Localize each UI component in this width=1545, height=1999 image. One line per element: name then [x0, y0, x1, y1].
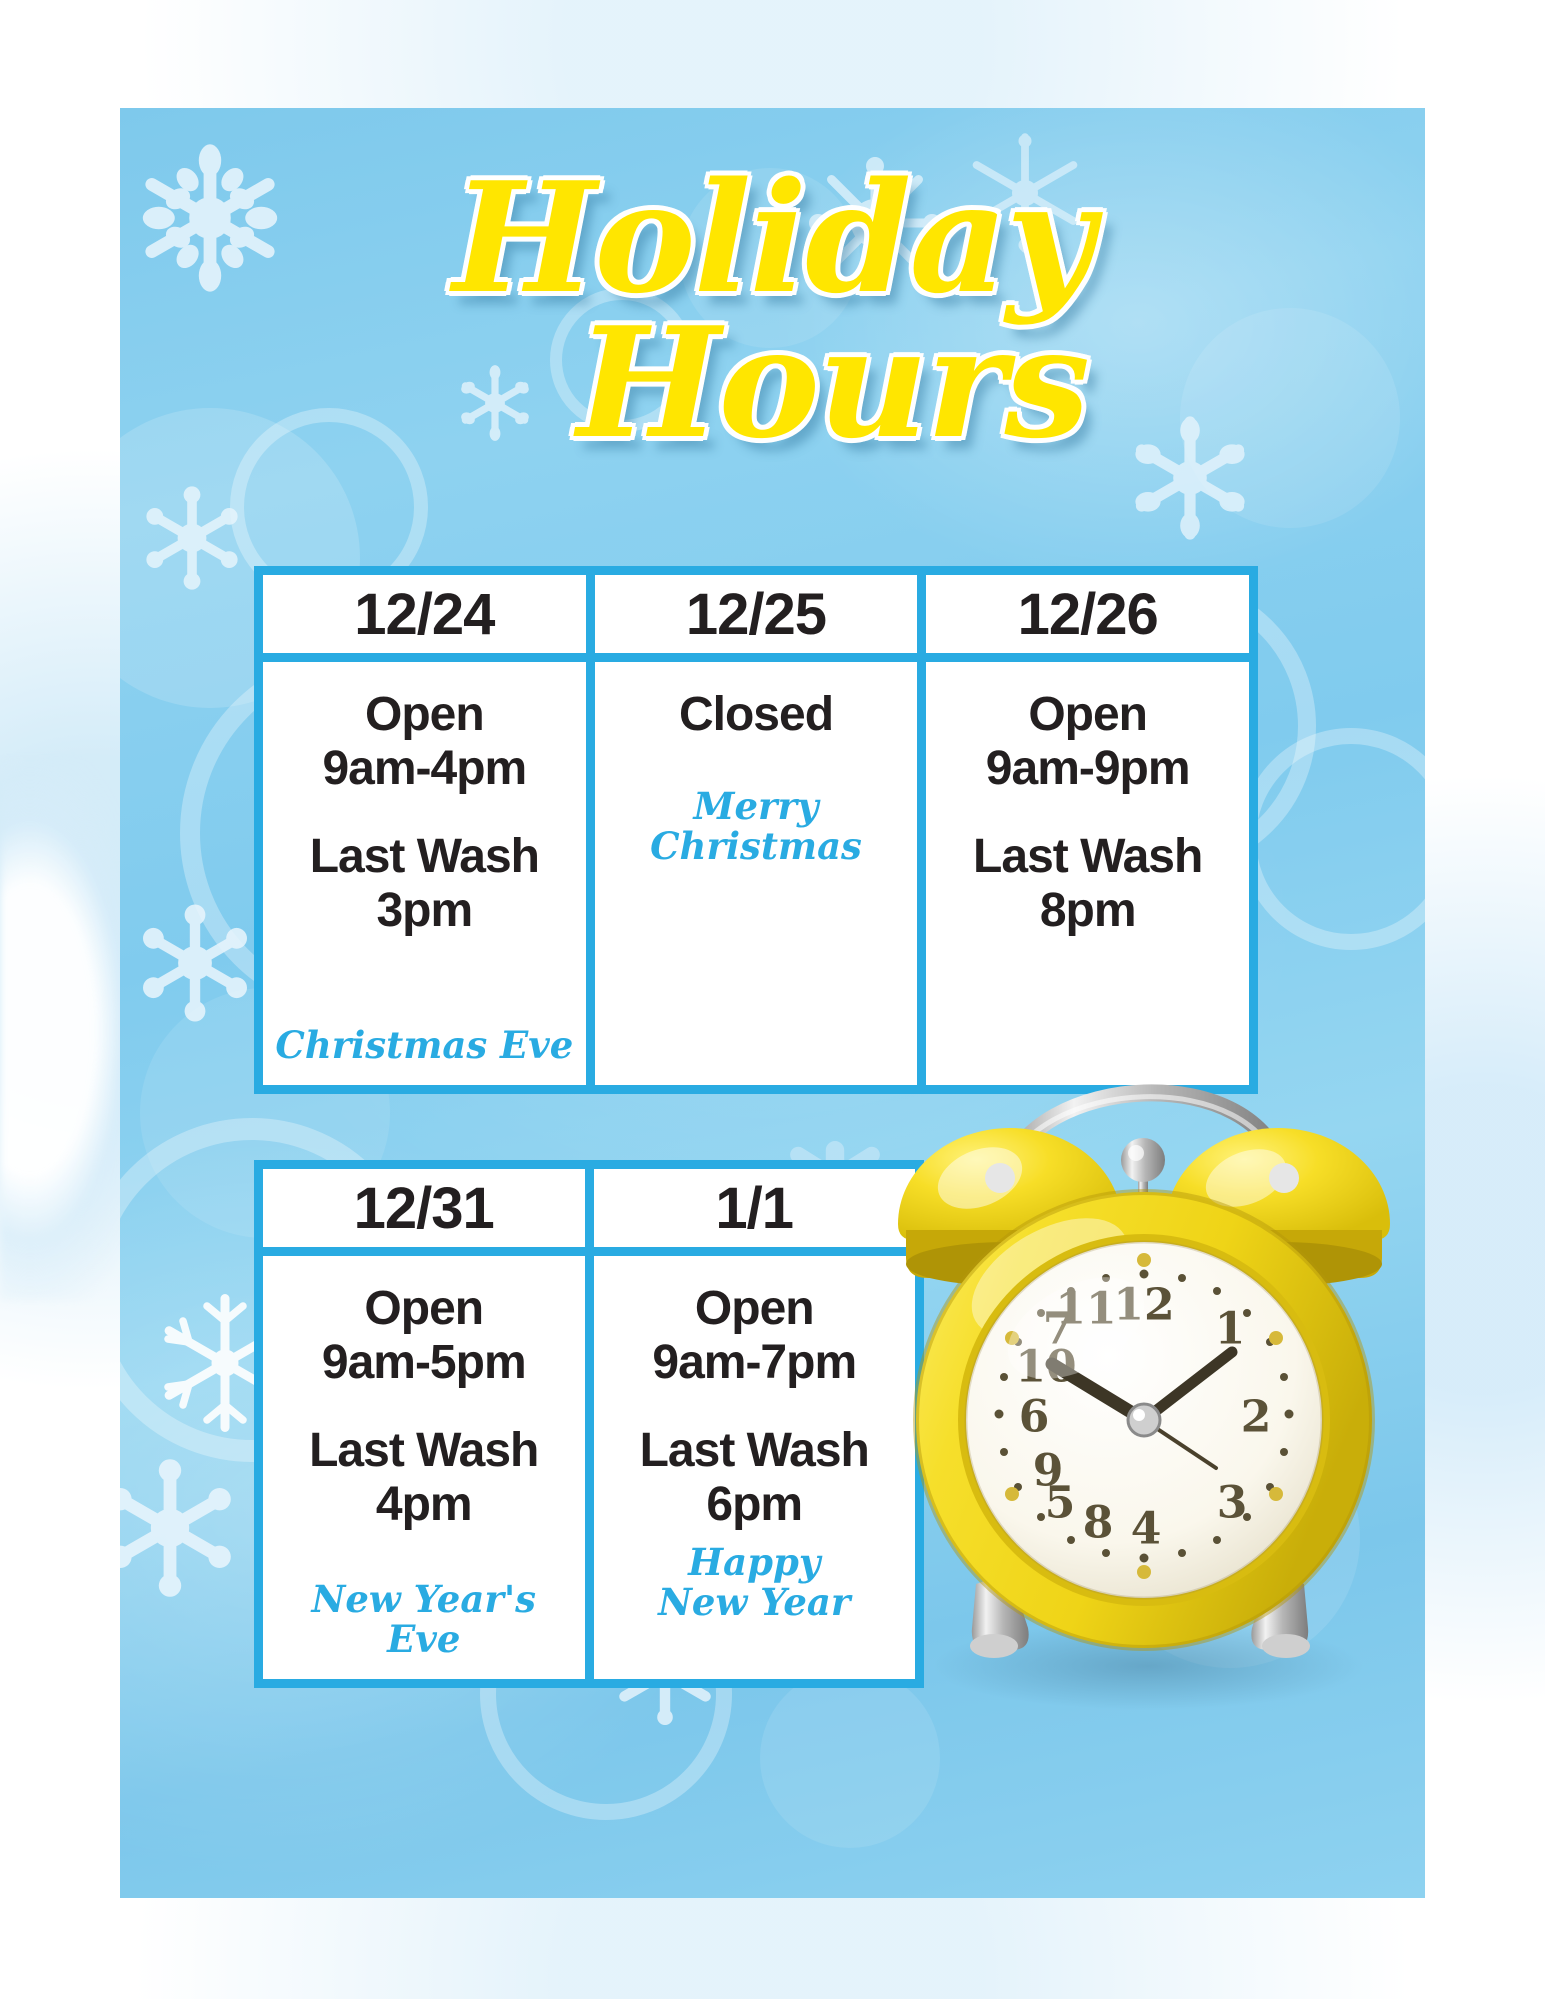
open-status: Open 9am-5pm [322, 1282, 526, 1390]
last-wash-time: 8pm [1040, 884, 1136, 937]
hours-value: 9am-5pm [322, 1336, 526, 1390]
status-label: Open [364, 1282, 483, 1335]
svg-text:6: 6 [1019, 1392, 1050, 1443]
hours-value: 9am-7pm [652, 1336, 856, 1390]
last-wash-time: 3pm [376, 884, 472, 937]
snowflake-icon [130, 138, 290, 298]
date-header: 1/1 [594, 1169, 916, 1247]
open-status: Open 9am-9pm [986, 688, 1190, 796]
yellow-alarm-clock-icon: 12 1 2 3 4 5 6 7 11 10 9 8 [880, 1028, 1400, 1718]
last-wash-label: Last Wash [973, 830, 1202, 883]
schedule-cell-body: Open 9am-9pm Last Wash 8pm [926, 662, 1249, 1085]
hours-value: 9am-9pm [986, 742, 1190, 796]
holiday-hours-table-christmas: 12/24 Open 9am-4pm Last Wash 3pm Christm… [254, 566, 1258, 1094]
svg-text:4: 4 [1131, 1504, 1162, 1555]
snowflake-icon [132, 478, 252, 598]
last-wash-info: Last Wash 4pm [309, 1424, 538, 1532]
status-label: Open [695, 1282, 814, 1335]
last-wash-label: Last Wash [309, 1424, 538, 1477]
schedule-column-12-31: 12/31 Open 9am-5pm Last Wash 4pm New Yea… [263, 1169, 585, 1679]
snowflake-icon [450, 358, 540, 448]
holiday-greeting: Happy New Year [658, 1542, 850, 1622]
open-status: Open 9am-7pm [652, 1282, 856, 1390]
last-wash-time: 6pm [706, 1478, 802, 1531]
date-header: 12/24 [263, 575, 586, 653]
date-header: 12/25 [595, 575, 918, 653]
hours-value: 9am-4pm [322, 742, 526, 796]
schedule-column-1-1: 1/1 Open 9am-7pm Last Wash 6pm Happy New… [594, 1169, 916, 1679]
last-wash-info: Last Wash 6pm [640, 1424, 869, 1532]
closed-status: Closed [679, 688, 833, 742]
svg-text:8: 8 [1083, 1498, 1114, 1549]
snowflake-icon [800, 148, 950, 298]
open-status: Open 9am-4pm [322, 688, 526, 796]
status-label: Closed [679, 688, 833, 741]
holiday-hours-poster: Holiday Hours 12/24 Open 9am-4pm Last Wa… [0, 0, 1545, 1999]
snowflake-icon [960, 128, 1090, 258]
schedule-column-12-24: 12/24 Open 9am-4pm Last Wash 3pm Christm… [263, 575, 586, 1085]
svg-text:3: 3 [1217, 1478, 1248, 1529]
last-wash-info: Last Wash 3pm [310, 830, 539, 938]
holiday-greeting: Christmas Eve [275, 1025, 573, 1065]
date-header: 12/31 [263, 1169, 585, 1247]
schedule-column-12-26: 12/26 Open 9am-9pm Last Wash 8pm [926, 575, 1249, 1085]
snowflake-icon [130, 898, 260, 1028]
schedule-cell-body: Open 9am-4pm Last Wash 3pm Christmas Eve [263, 662, 586, 1085]
svg-text:9: 9 [1033, 1446, 1064, 1497]
snowflake-icon [1120, 408, 1260, 548]
holiday-greeting: Merry Christmas [650, 786, 862, 866]
last-wash-time: 4pm [376, 1478, 472, 1531]
last-wash-label: Last Wash [640, 1424, 869, 1477]
last-wash-info: Last Wash 8pm [973, 830, 1202, 938]
status-label: Open [365, 688, 484, 741]
holiday-hours-table-new-year: 12/31 Open 9am-5pm Last Wash 4pm New Yea… [254, 1160, 924, 1688]
schedule-cell-body: Open 9am-5pm Last Wash 4pm New Year's Ev… [263, 1256, 585, 1679]
svg-text:2: 2 [1241, 1392, 1272, 1443]
schedule-column-12-25: 12/25 Closed Merry Christmas [595, 575, 918, 1085]
holiday-greeting: New Year's Eve [273, 1579, 575, 1659]
snowflake-icon [120, 1448, 250, 1608]
date-header: 12/26 [926, 575, 1249, 653]
svg-text:1: 1 [1215, 1304, 1246, 1355]
status-label: Open [1028, 688, 1147, 741]
bokeh-ring [550, 288, 694, 432]
last-wash-label: Last Wash [310, 830, 539, 883]
schedule-cell-body: Open 9am-7pm Last Wash 6pm Happy New Yea… [594, 1256, 916, 1679]
schedule-cell-body: Closed Merry Christmas [595, 662, 918, 1085]
